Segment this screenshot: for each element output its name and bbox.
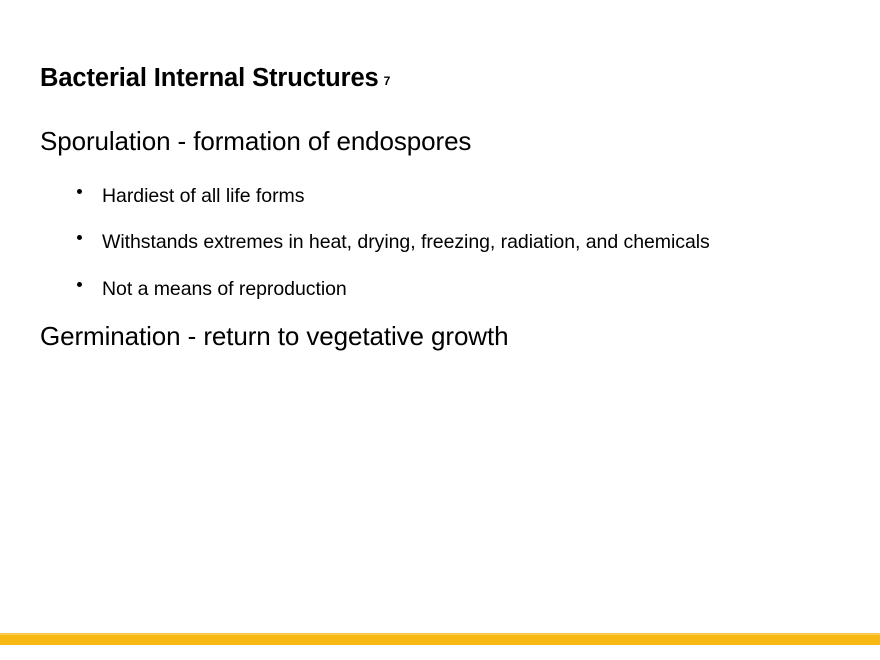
- bullet-list: Hardiest of all life forms Withstands ex…: [40, 183, 830, 303]
- content-heading-germination: Germination - return to vegetative growt…: [40, 321, 830, 352]
- slide-body: Sporulation - formation of endospores Ha…: [40, 126, 830, 352]
- spacer: [40, 256, 830, 276]
- bullet-dot-icon: [77, 235, 82, 240]
- slide-canvas: Bacterial Internal Structures7 Sporulati…: [0, 0, 880, 660]
- list-item-label: Hardiest of all life forms: [102, 185, 304, 207]
- bottom-accent-bar: [0, 633, 880, 645]
- list-item: Withstands extremes in heat, drying, fre…: [40, 229, 830, 256]
- list-item-label: Not a means of reproduction: [102, 278, 347, 300]
- bullet-dot-icon: [77, 189, 82, 194]
- spacer: [40, 157, 830, 183]
- page-title-text: Bacterial Internal Structures: [40, 64, 379, 92]
- spacer: [40, 302, 830, 321]
- list-item-label: Withstands extremes in heat, drying, fre…: [102, 231, 710, 253]
- content-heading-sporulation: Sporulation - formation of endospores: [40, 126, 830, 157]
- list-item: Not a means of reproduction: [40, 276, 830, 303]
- list-item: Hardiest of all life forms: [40, 183, 830, 210]
- page-title: Bacterial Internal Structures7: [40, 64, 840, 92]
- slide-number: 7: [384, 74, 391, 88]
- spacer: [40, 209, 830, 229]
- bullet-dot-icon: [77, 282, 82, 287]
